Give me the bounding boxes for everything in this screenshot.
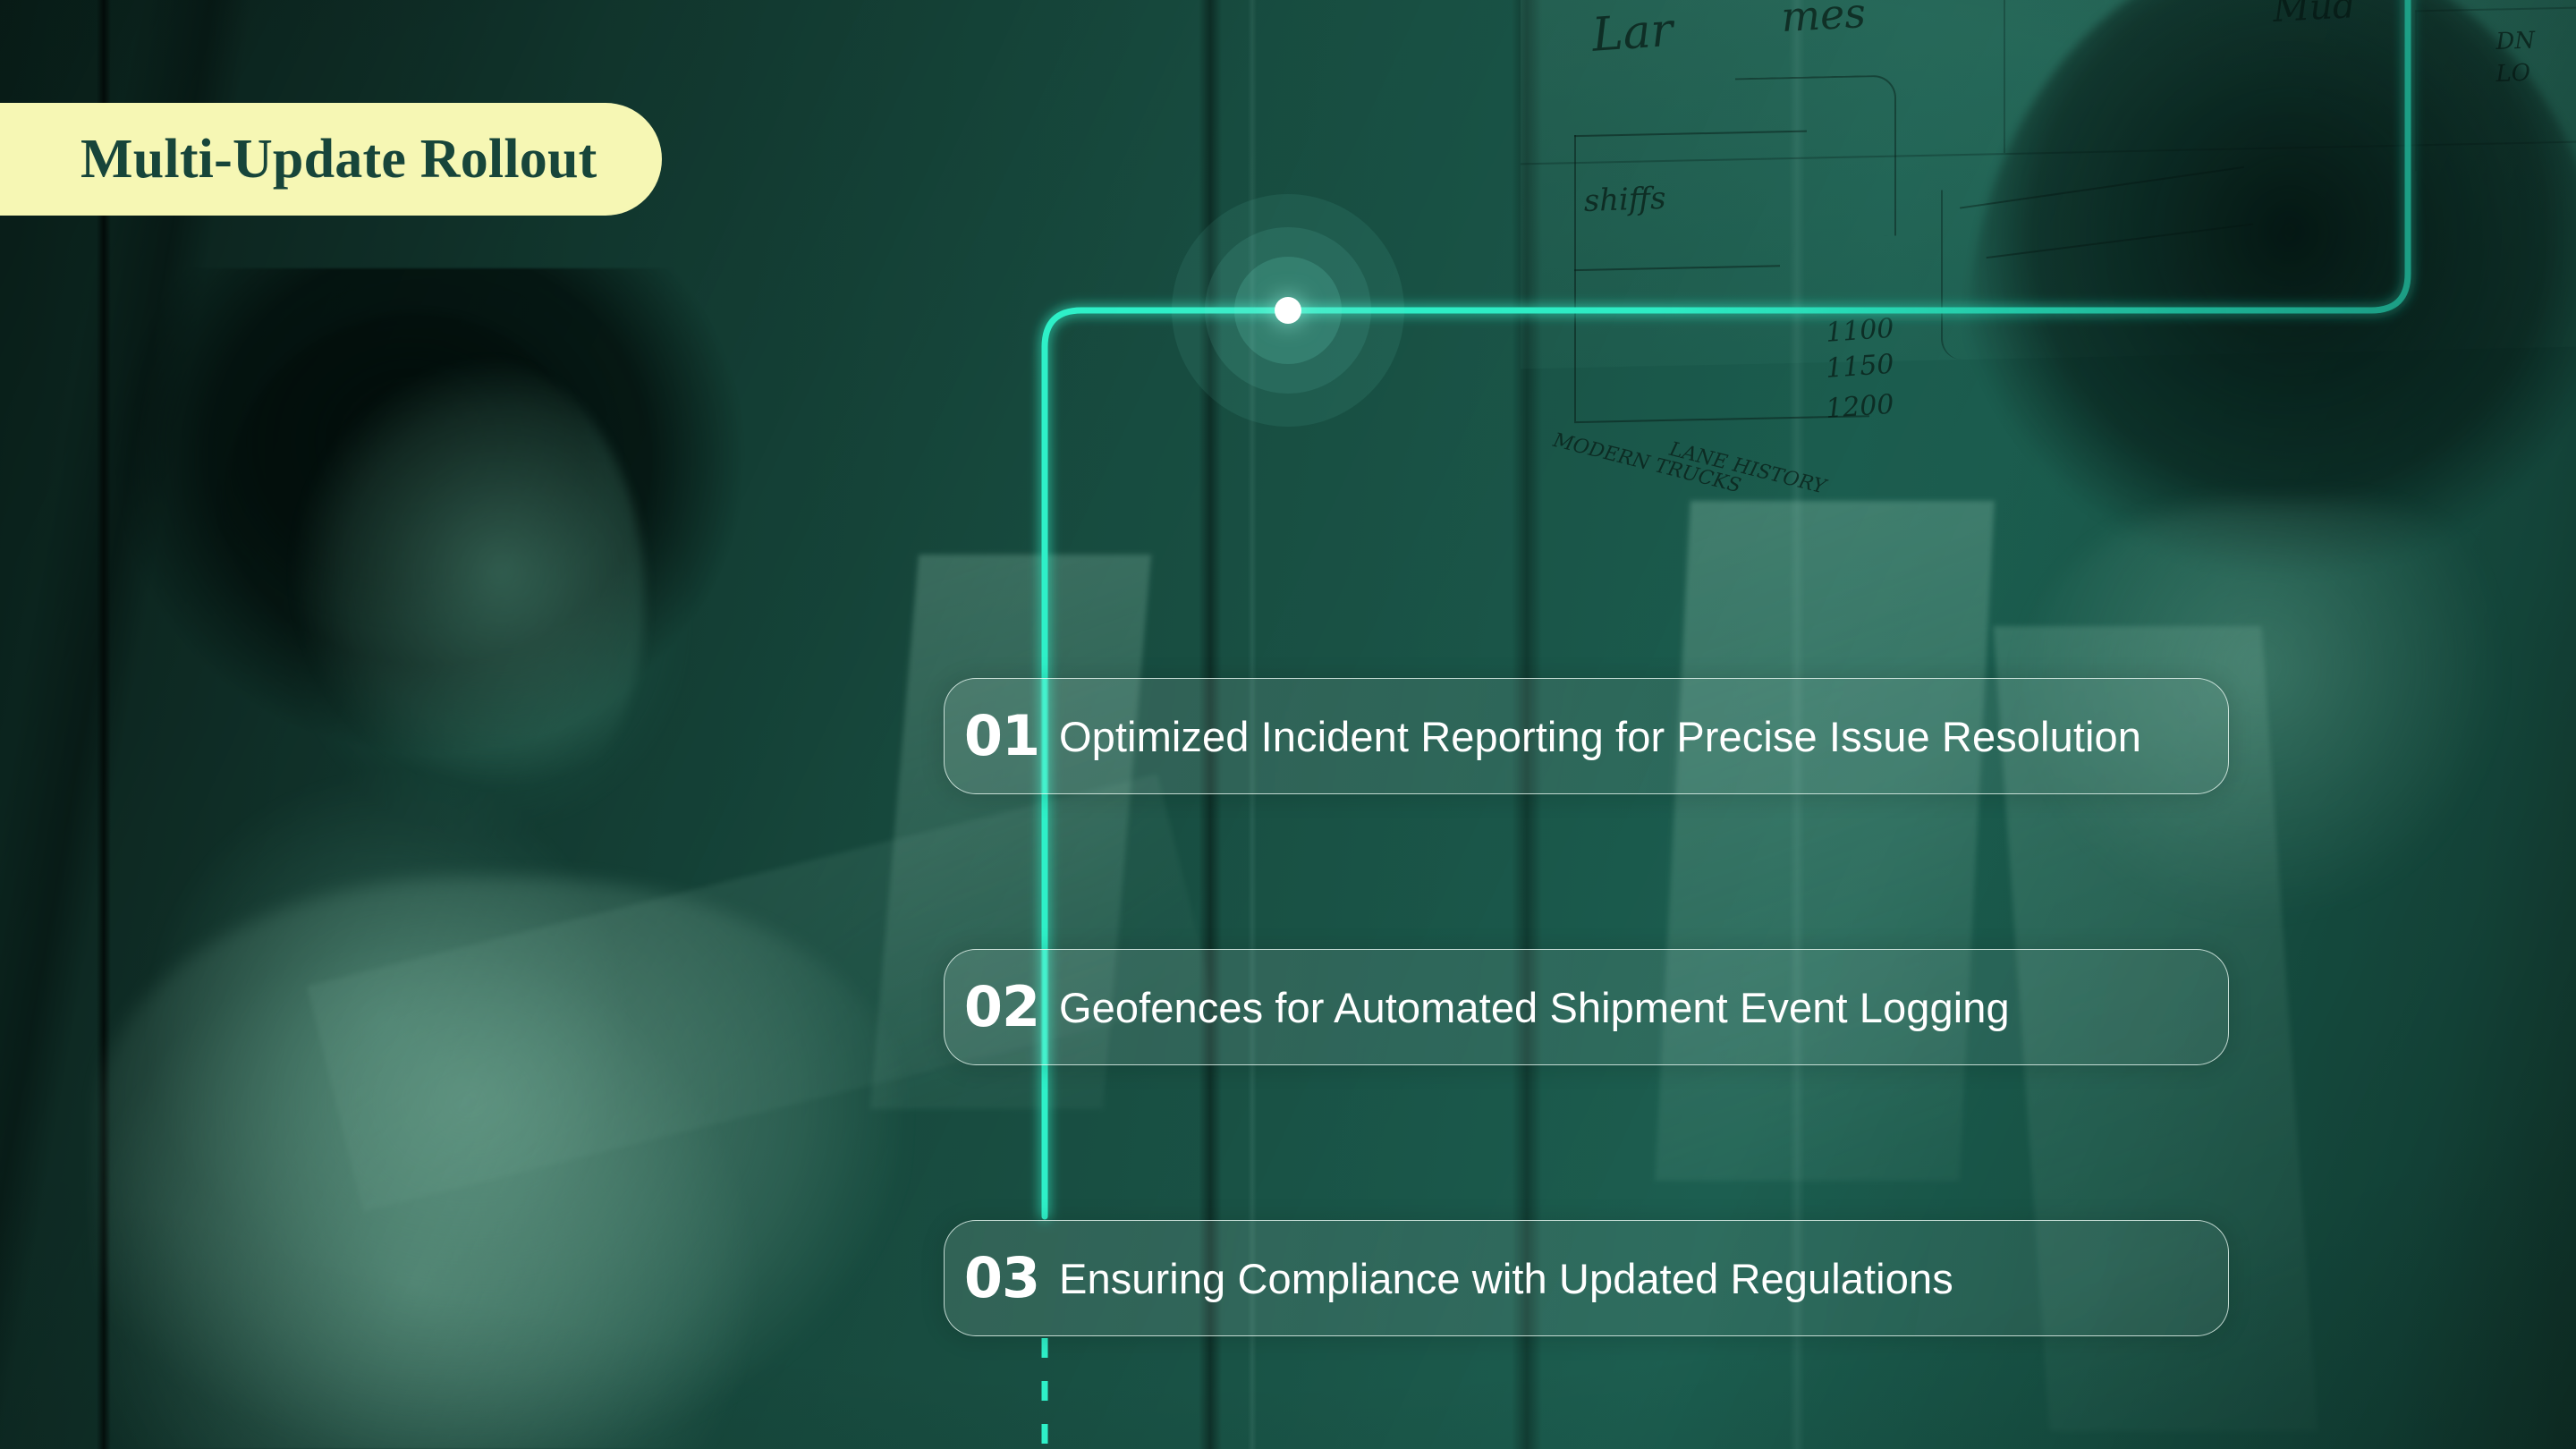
item-label: Optimized Incident Reporting for Precise… <box>1059 712 2141 761</box>
slide-canvas: Larmesshiffs110011501200MODERN TRUCKSLAN… <box>0 0 2576 1449</box>
item-label: Ensuring Compliance with Updated Regulat… <box>1059 1254 1953 1303</box>
page-title: Multi-Update Rollout <box>80 128 597 191</box>
timeline-item-card[interactable]: 03 Ensuring Compliance with Updated Regu… <box>944 1220 2229 1336</box>
timeline-item-card[interactable]: 02 Geofences for Automated Shipment Even… <box>944 949 2229 1065</box>
item-number: 03 <box>945 1250 1059 1306</box>
node-dot <box>1275 297 1301 324</box>
item-number: 02 <box>945 979 1059 1035</box>
slide-title-badge: Multi-Update Rollout <box>0 103 662 216</box>
item-label: Geofences for Automated Shipment Event L… <box>1059 983 2010 1032</box>
timeline-item-card[interactable]: 01 Optimized Incident Reporting for Prec… <box>944 678 2229 794</box>
item-number: 01 <box>945 708 1059 764</box>
